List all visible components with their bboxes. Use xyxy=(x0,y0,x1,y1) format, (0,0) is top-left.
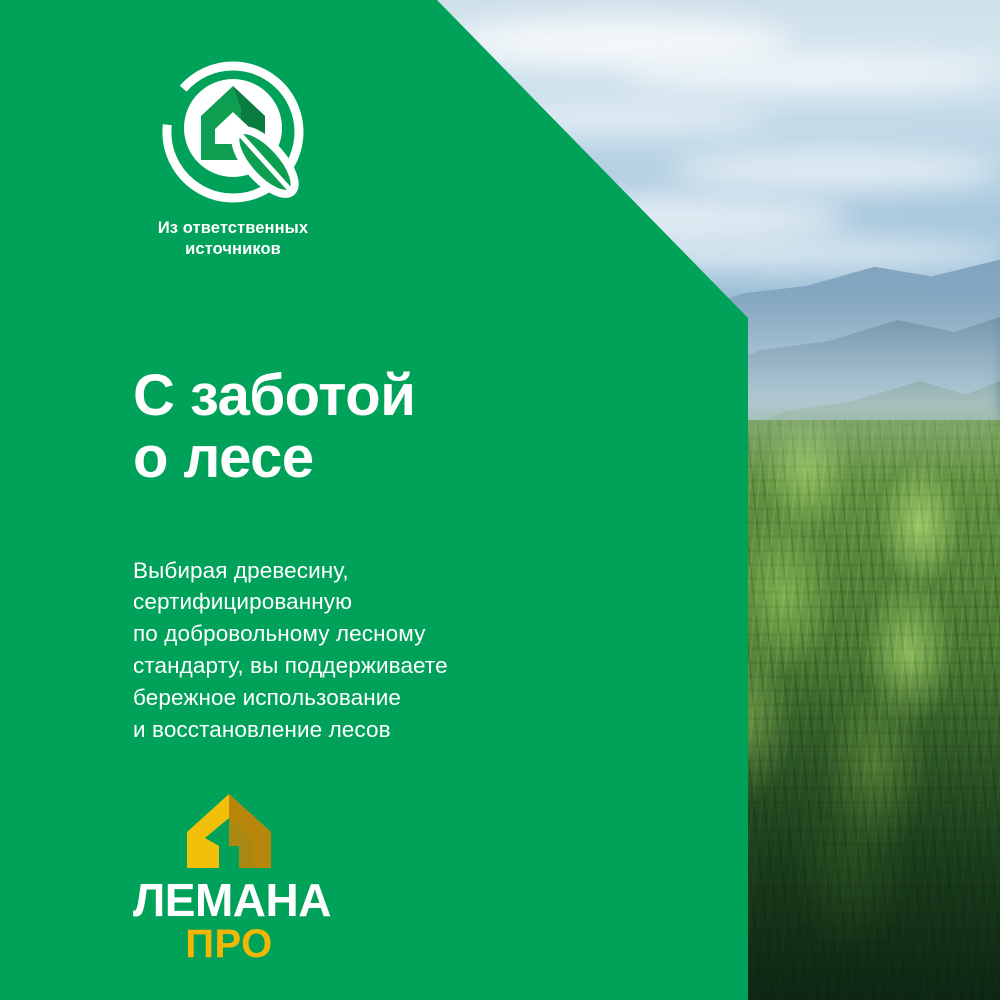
page-title: С заботой о лесе xyxy=(133,365,415,490)
lemana-house-icon xyxy=(183,792,275,870)
brand-lockup: ЛЕМАНА ПРО xyxy=(133,792,325,965)
cloud-band xyxy=(620,58,1000,92)
cloud-band xyxy=(450,18,790,64)
certification-caption: Из ответственных источников xyxy=(133,218,333,260)
cloud-band xyxy=(670,150,1000,190)
certification-badge: Из ответственных источников xyxy=(133,60,333,260)
poster-root: Из ответственных источников С заботой о … xyxy=(0,0,1000,1000)
brand-name: ЛЕМАНА xyxy=(133,878,325,922)
house-leaf-circle-icon xyxy=(161,60,305,204)
brand-sub-name: ПРО xyxy=(133,924,325,965)
body-paragraph: Выбирая древесину, сертифицированную по … xyxy=(133,555,448,747)
